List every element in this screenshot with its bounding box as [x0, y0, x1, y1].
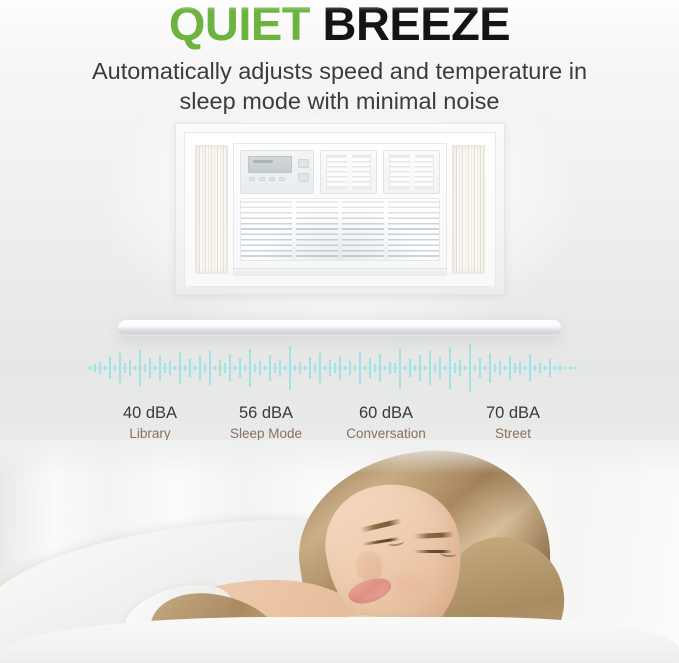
window-sill-shelf [118, 320, 561, 336]
quiet-breeze-feature-poster: QUIET BREEZE Automatically adjusts speed… [0, 0, 679, 663]
control-button-up[interactable] [298, 159, 309, 168]
control-button-2[interactable] [259, 177, 265, 181]
lcd-display [248, 156, 292, 173]
vent-louver-right [383, 150, 440, 194]
shelf-glow [132, 0, 547, 6]
subtitle-line-1: Automatically adjusts speed and temperat… [0, 56, 679, 86]
decibel-item-street: 70 dBA Street [438, 403, 588, 443]
front-intake-grille [240, 198, 440, 261]
subtitle: Automatically adjusts speed and temperat… [0, 56, 679, 116]
audio-waveform [88, 342, 580, 394]
photo-top-fade [0, 440, 679, 474]
accordion-side-panel-right [452, 145, 485, 274]
control-button-4[interactable] [279, 177, 285, 181]
ac-unit-body [233, 143, 447, 276]
decibel-value: 70 dBA [438, 403, 588, 424]
title-word-breeze: BREEZE [323, 0, 511, 50]
vent-louver-left [320, 150, 377, 194]
control-button-1[interactable] [249, 177, 255, 181]
control-button-3[interactable] [269, 177, 275, 181]
waveform-svg [88, 342, 580, 394]
cheek-blush [386, 568, 428, 600]
window-frame [175, 123, 505, 295]
window-inner-frame [184, 132, 496, 287]
control-button-down[interactable] [298, 173, 309, 182]
title-word-quiet: QUIET [169, 0, 310, 50]
ac-unit-base [234, 268, 446, 276]
accordion-side-panel-left [195, 145, 228, 274]
grille-sheen [241, 199, 439, 260]
window-air-conditioner [175, 123, 505, 295]
ac-top-row [240, 150, 440, 194]
sleeping-woman-photo [0, 440, 679, 663]
page-title: QUIET BREEZE [0, 0, 679, 50]
subtitle-line-2: sleep mode with minimal noise [0, 86, 679, 116]
control-panel[interactable] [240, 150, 314, 194]
